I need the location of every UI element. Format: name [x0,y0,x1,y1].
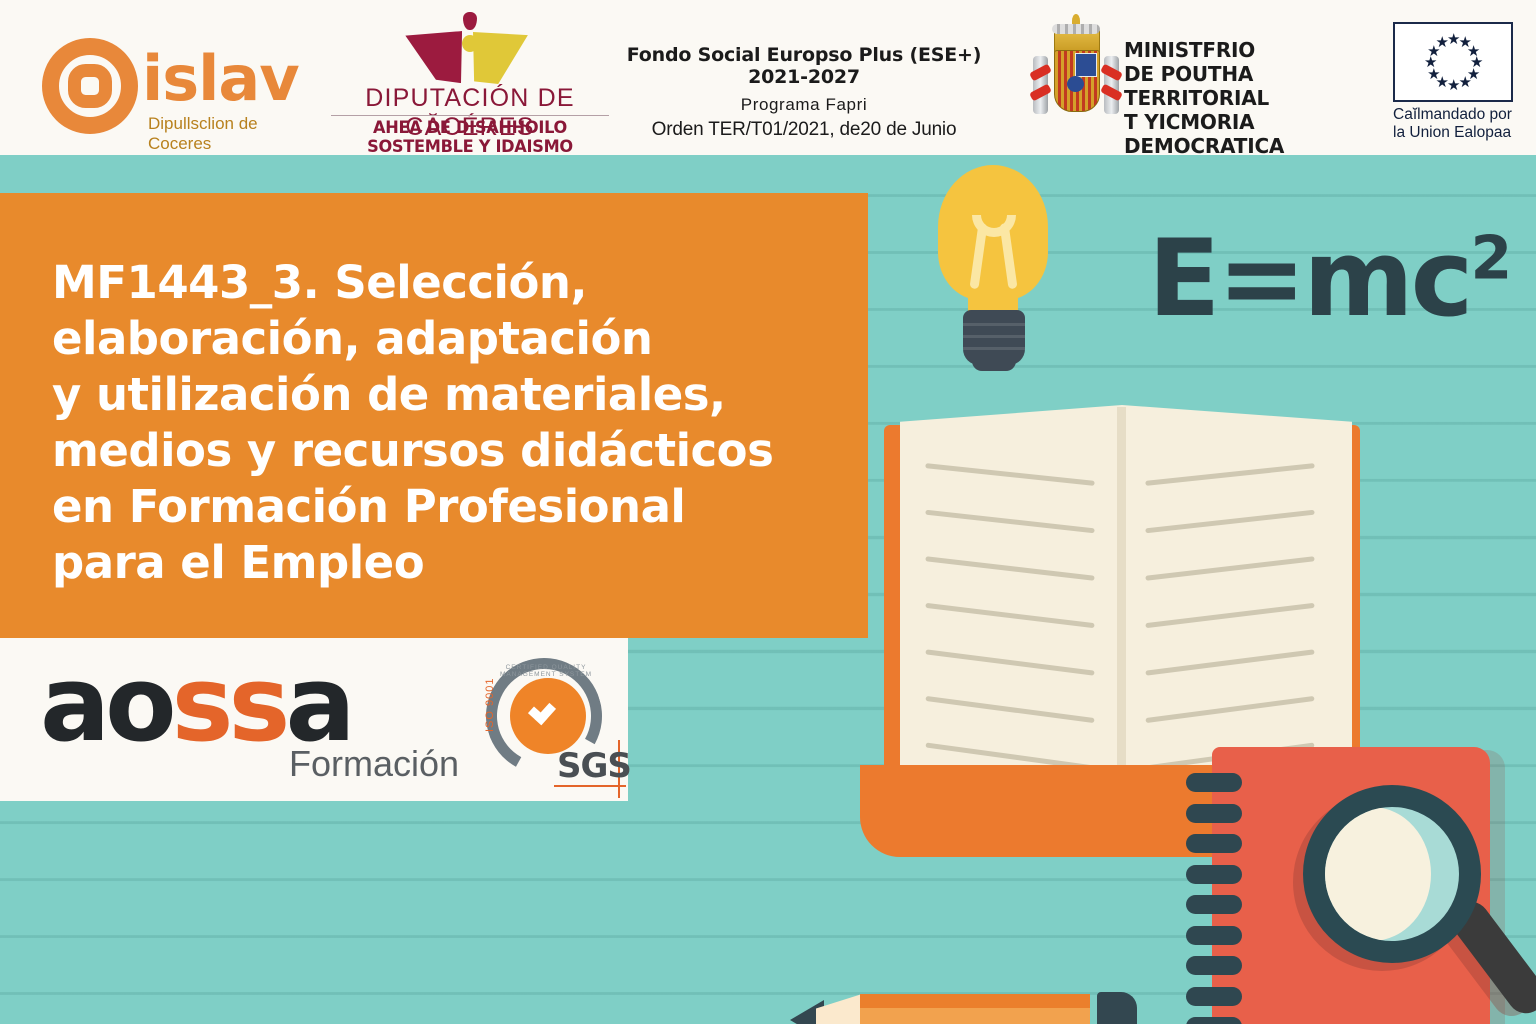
notebook-spiral-ring [1186,804,1242,823]
aossa-part-1: ao [40,643,172,765]
notebook-spiral-ring [1186,1017,1242,1024]
lightbulb-neck [968,285,1018,313]
sgs-label: SGS [557,746,631,786]
poster-body: E=mc2 MF1443_3. Selección, elaboración, … [0,155,1536,1024]
eu-caption-line-1: Caĭlmandado por [1393,106,1517,124]
fondo-line-1: Fondo Social Europso Plus (ESE+) 2021-20… [620,44,988,88]
pencil-stripe [860,1008,1090,1024]
fondo-line-2: Programa Fapri [620,95,988,115]
notebook-spiral-ring [1186,895,1242,914]
diputacion-divider [331,115,609,116]
magnifier-lens-highlight [1325,807,1431,941]
check-mark-icon [529,694,563,714]
crown-pearls-icon [1052,24,1100,34]
ministerio-line-1: MINISTFRIO [1124,38,1370,62]
emc2-formula: E=mc2 [1148,217,1511,340]
pencil-eraser [1097,992,1137,1024]
lightbulb-base-line-1 [963,323,1025,326]
islav-logo: islav Dipullsclion de Coceres [20,18,320,136]
notebook-spiral-ring [1186,926,1242,945]
sgs-badge: CERTIFIED QUALITY MANAGEMENT SYSTEM ISO … [482,652,622,792]
course-title-panel: MF1443_3. Selección, elaboración, adapta… [0,193,868,638]
aossa-formacion-label: Formación [289,743,459,785]
header-logo-bar: islav Dipullsclion de Coceres DIPUTACIÓN… [0,0,1536,155]
formula-base: E=mc [1148,217,1471,340]
notebook-spiral-ring [1186,834,1242,853]
ministerio-text: MINISTFRIO DE POUTHA TERRITORIAL T YICMO… [1124,38,1370,158]
eu-caption-line-2: la Union Ealopaa [1393,124,1517,142]
islav-wordmark: islav [142,42,299,115]
aossa-part-2: ss [172,643,286,765]
islav-subtitle: Dipullsclion de Coceres [148,114,320,154]
magnifier-lens [1325,807,1459,941]
spanish-coat-of-arms-icon [1028,22,1124,134]
ministerio-line-3: T YICMORIA DEMOCRATICA [1124,110,1370,158]
notebook-spiral-ring [1186,987,1242,1006]
caceres-wings-icon [395,12,545,84]
caceres-wing-left-icon [404,31,464,85]
diputacion-logo: DIPUTACIÓN DE CĂCÉRES AHEA DE DISAHHOILO… [325,12,615,144]
poster-canvas: islav Dipullsclion de Coceres DIPUTACIÓN… [0,0,1536,1024]
caceres-dot-top-icon [463,12,477,30]
eu-star-icon: ★ [1459,76,1472,89]
eu-flag-icon: ★★★★★★★★★★★★ [1393,22,1513,102]
caceres-wing-right-icon [473,32,529,84]
notebook-spiral-ring [1186,773,1242,792]
aossa-logo-panel: aossa Formación CERTIFIED QUALITY MANAGE… [0,638,628,801]
fondo-social-block: Fondo Social Europso Plus (ESE+) 2021-20… [620,44,988,141]
formula-exponent: 2 [1471,224,1512,294]
notebook-spiral-ring [1186,956,1242,975]
page-title: MF1443_3. Selección, elaboración, adapta… [52,255,842,591]
eu-star-icon: ★ [1436,36,1449,49]
diputacion-area: AHEA DE DISAHHOILO SOSTEMBLE Y IDAISMO [328,118,612,156]
shield-quarter-icon [1075,53,1097,77]
fondo-line-3: Orden TER/T01/2021, de20 de Junio [620,119,988,141]
notebook-spiral-ring [1186,865,1242,884]
eu-logo: ★★★★★★★★★★★★ Caĭlmandado por la Union Ea… [1385,22,1525,142]
sgs-iso-label: ISO 9001 [484,678,496,732]
bullseye-inner-icon [68,64,112,108]
ministerio-logo: MINISTFRIO DE POUTHA TERRITORIAL T YICMO… [1020,18,1370,138]
eu-caption: Caĭlmandado por la Union Ealopaa [1393,106,1517,142]
shield-escutcheon-icon [1067,76,1084,92]
lightbulb-base-line-2 [963,335,1025,338]
ministerio-line-2: DE POUTHA TERRITORIAL [1124,62,1370,110]
lightbulb-base-notch [972,355,1016,371]
book-spine [1117,407,1126,827]
lightbulb-base-line-3 [963,347,1025,350]
